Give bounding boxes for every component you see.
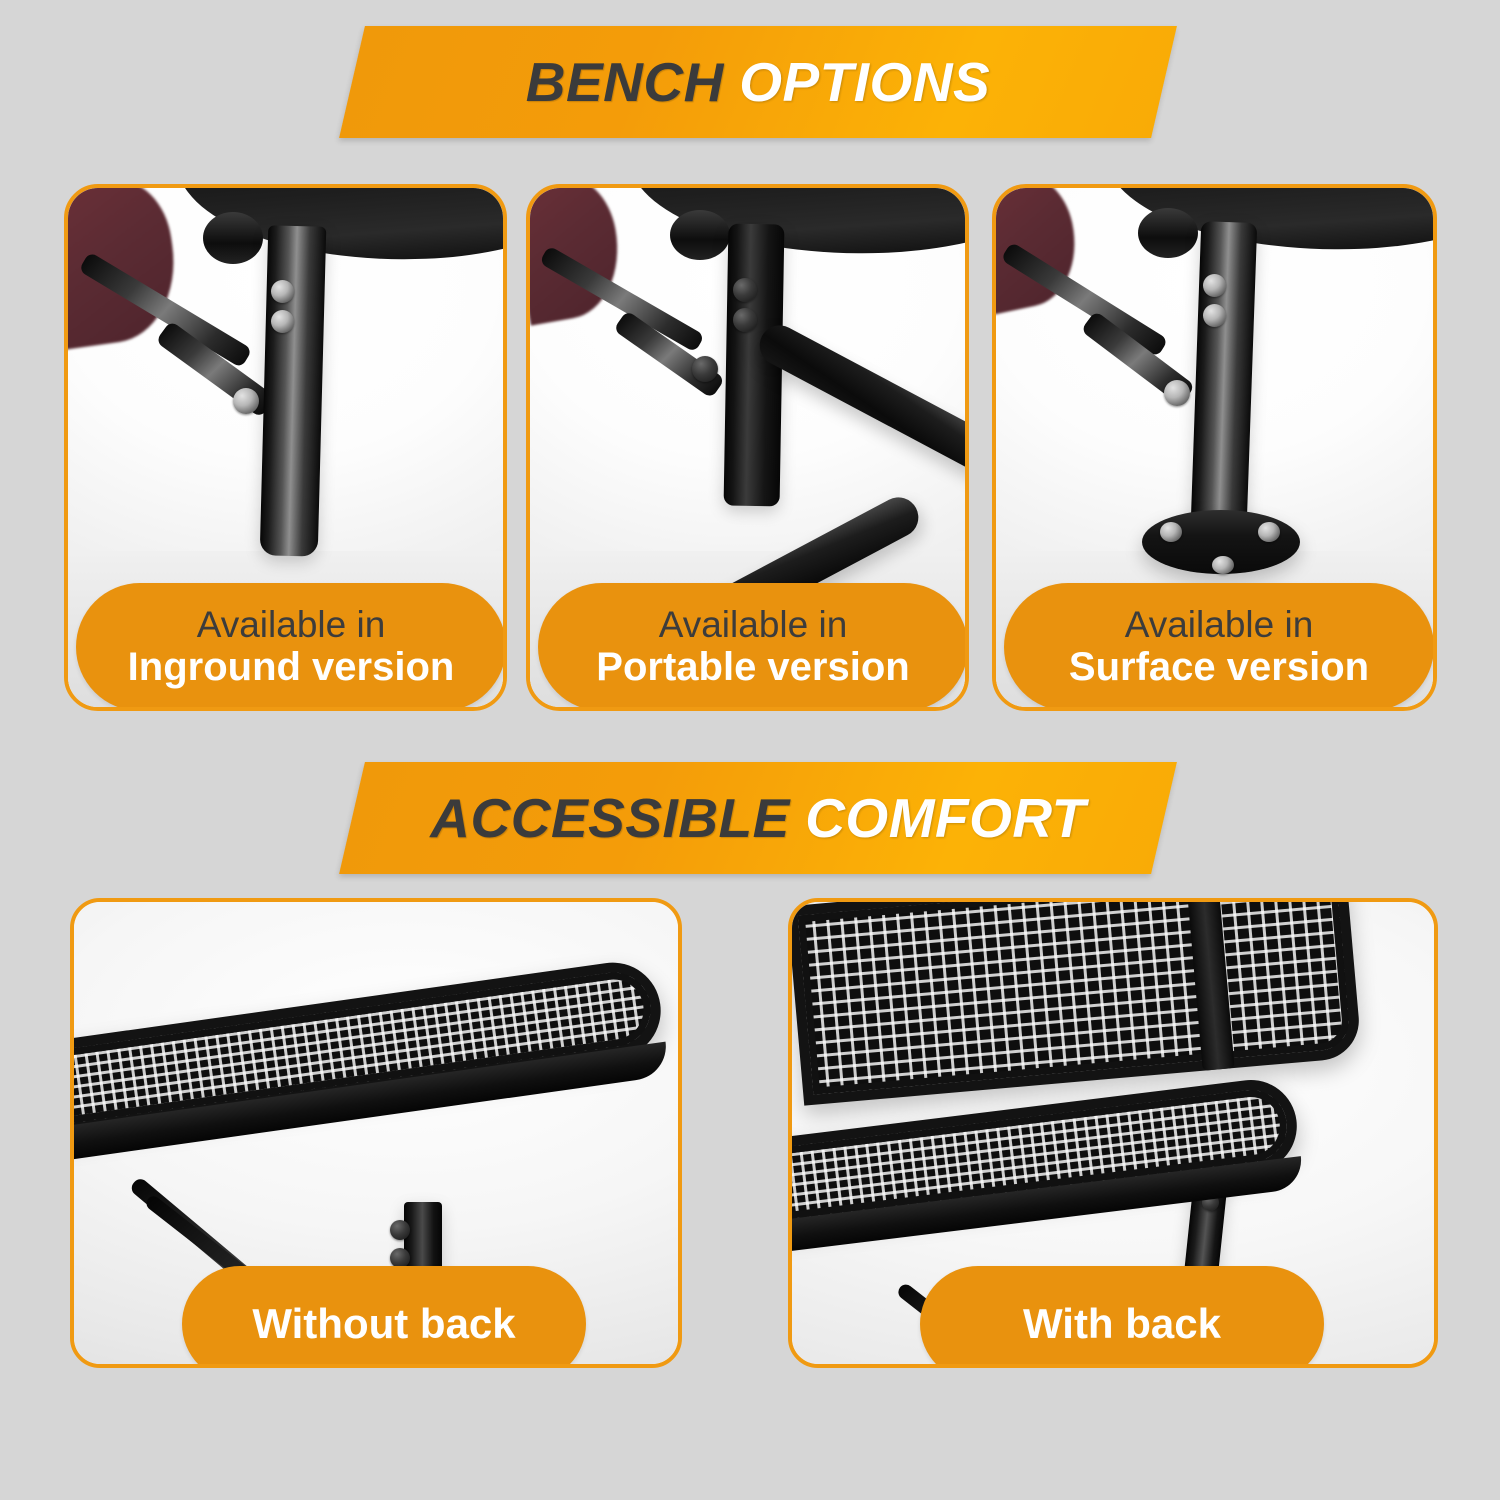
caption-pill-surface: Available in Surface version: [1004, 583, 1434, 711]
banner-word-light: OPTIONS: [739, 50, 990, 114]
card-inground[interactable]: Available in Inground version: [64, 184, 507, 711]
caption-line: Without back: [252, 1300, 515, 1347]
banner-word-dark: BENCH: [526, 50, 724, 114]
card-without-back[interactable]: Without back: [70, 898, 682, 1368]
caption-pill-inground: Available in Inground version: [76, 583, 506, 711]
caption-line-1: Available in: [197, 604, 386, 645]
caption-line-1: Available in: [1125, 604, 1314, 645]
banner-word-light: COMFORT: [805, 786, 1086, 850]
banner-title: BENCH OPTIONS: [352, 26, 1164, 138]
caption-line-2: Portable version: [596, 645, 909, 690]
caption-pill-portable: Available in Portable version: [538, 583, 968, 711]
banner-title: ACCESSIBLE COMFORT: [352, 762, 1164, 874]
card-surface[interactable]: Available in Surface version: [992, 184, 1437, 711]
caption-line-2: Inground version: [128, 645, 455, 690]
caption-line-2: Surface version: [1069, 645, 1369, 690]
banner-word-dark: ACCESSIBLE: [430, 786, 790, 850]
card-with-back[interactable]: With back: [788, 898, 1438, 1368]
banner-accessible-comfort: ACCESSIBLE COMFORT: [352, 762, 1164, 874]
caption-line-1: Available in: [659, 604, 848, 645]
caption-pill-without-back: Without back: [182, 1266, 586, 1368]
card-portable[interactable]: Available in Portable version: [526, 184, 969, 711]
banner-bench-options: BENCH OPTIONS: [352, 26, 1164, 138]
caption-line: With back: [1023, 1300, 1221, 1347]
caption-pill-with-back: With back: [920, 1266, 1324, 1368]
